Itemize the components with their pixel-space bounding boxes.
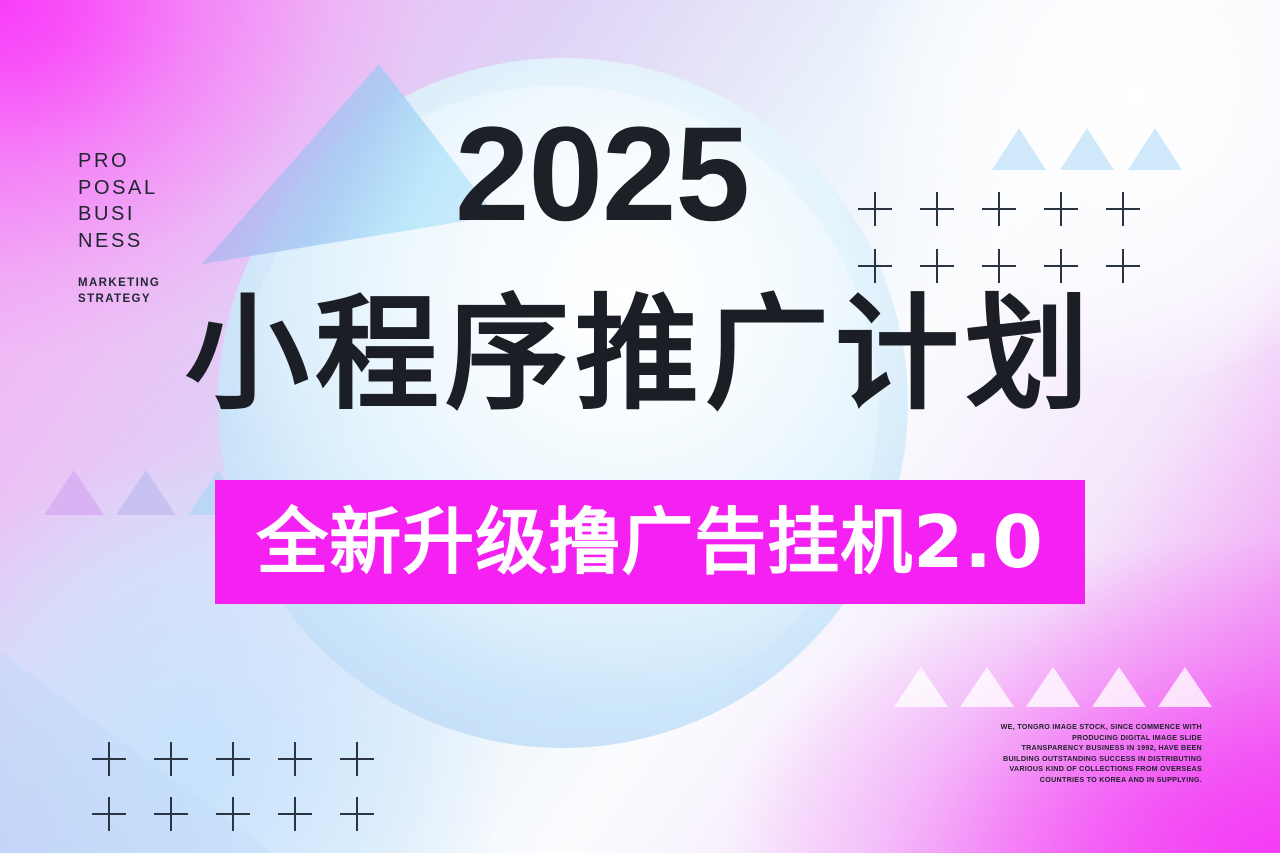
plus-icon xyxy=(154,742,188,776)
plus-icon xyxy=(216,797,250,831)
plus-icon xyxy=(92,797,126,831)
triangle-icon xyxy=(44,470,104,515)
plus-icon xyxy=(278,797,312,831)
plus-icon xyxy=(858,249,892,283)
triangle-icon xyxy=(1092,667,1146,707)
plus-icon xyxy=(920,249,954,283)
plus-icon xyxy=(1106,249,1140,283)
fineprint-line: PRODUCING DIGITAL IMAGE SLIDE xyxy=(902,733,1202,744)
plus-icon xyxy=(154,797,188,831)
plus-grid-bottom-left xyxy=(92,742,402,852)
banner-label: 全新升级撸广告挂机2.0 xyxy=(256,506,1044,578)
triangle-icon xyxy=(960,667,1014,707)
plus-icon xyxy=(1044,249,1078,283)
triangle-icon xyxy=(894,667,948,707)
plus-icon xyxy=(278,742,312,776)
plus-icon xyxy=(982,249,1016,283)
fineprint-paragraph: WE, TONGRO IMAGE STOCK, SINCE COMMENCE W… xyxy=(902,722,1202,785)
fineprint-line: TRANSPARENCY BUSINESS IN 1992, HAVE BEEN xyxy=(902,743,1202,754)
plus-icon xyxy=(340,797,374,831)
fineprint-line: COUNTRIES TO KOREA AND IN SUPPLYING. xyxy=(902,775,1202,786)
plus-icon xyxy=(92,742,126,776)
triangle-icon xyxy=(1026,667,1080,707)
poster-canvas: PRO POSAL BUSI NESS MARKETING STRATEGY 2… xyxy=(0,0,1280,853)
fineprint-line: BUILDING OUTSTANDING SUCCESS IN DISTRIBU… xyxy=(902,754,1202,765)
plus-icon xyxy=(216,742,250,776)
fineprint-line: WE, TONGRO IMAGE STOCK, SINCE COMMENCE W… xyxy=(902,722,1202,733)
triangle-icon xyxy=(116,470,176,515)
year-heading: 2025 xyxy=(0,108,1242,242)
triangle-icon xyxy=(1158,667,1212,707)
triangle-row-bottom-right xyxy=(894,667,1212,707)
fineprint-line: VARIOUS KIND OF COLLECTIONS FROM OVERSEA… xyxy=(902,764,1202,775)
highlight-banner: 全新升级撸广告挂机2.0 xyxy=(215,480,1085,604)
plus-icon xyxy=(340,742,374,776)
page-title: 小程序推广计划 xyxy=(0,286,1280,425)
